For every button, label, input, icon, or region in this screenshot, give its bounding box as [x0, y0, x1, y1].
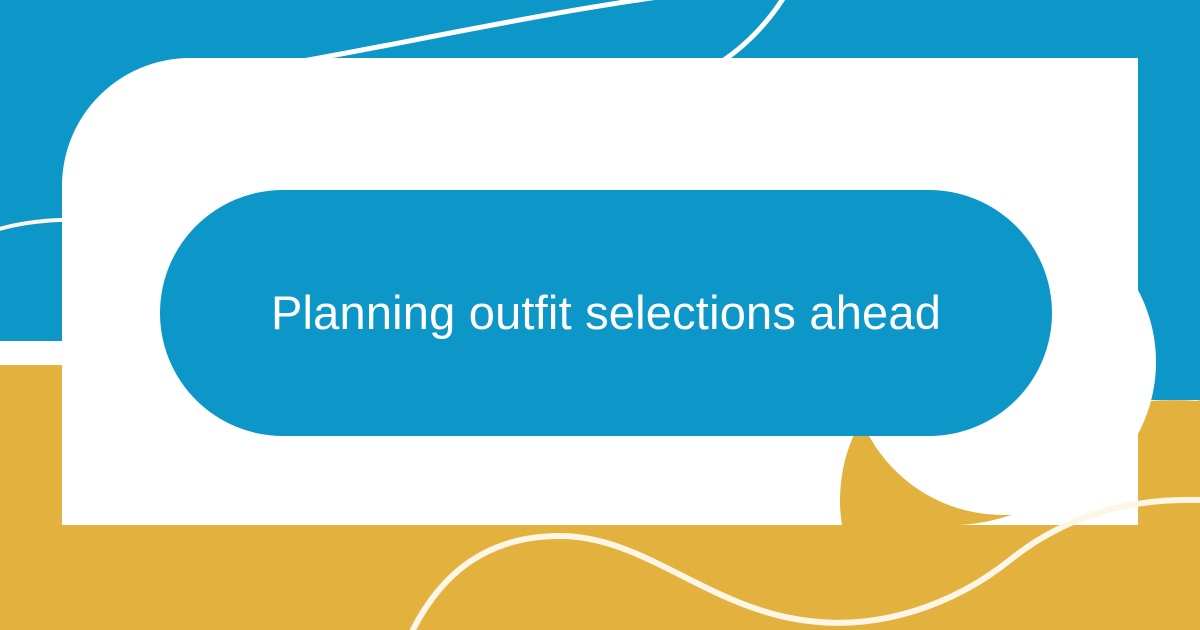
headline-pill: Planning outfit selections ahead: [160, 190, 1052, 436]
page-title: Planning outfit selections ahead: [271, 284, 941, 341]
banner-canvas: Planning outfit selections ahead: [0, 0, 1200, 630]
